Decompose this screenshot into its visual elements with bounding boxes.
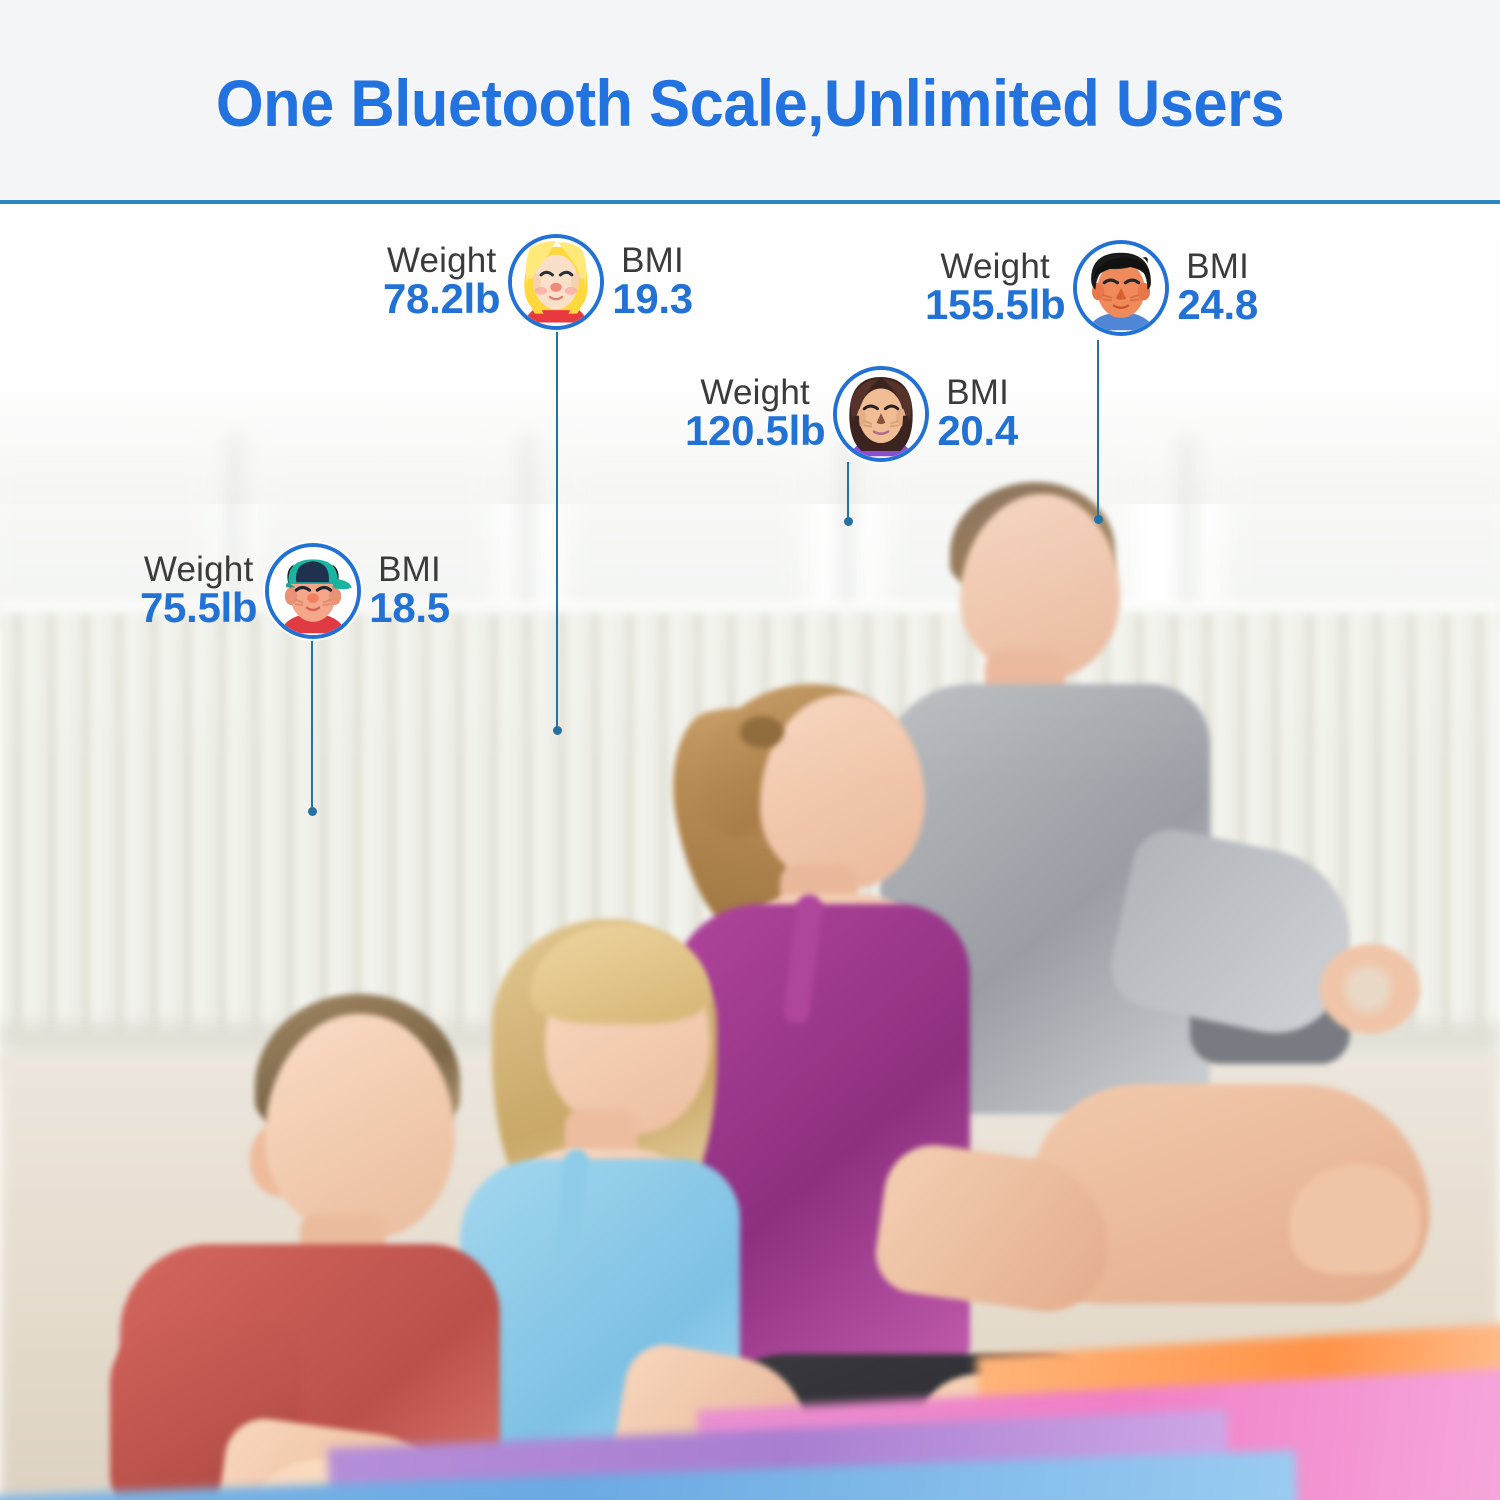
woman-hair-tie — [740, 716, 784, 748]
bmi-label: BMI — [946, 375, 1009, 411]
boy-head — [265, 1014, 455, 1239]
connector-line-man — [1097, 340, 1099, 520]
bmi-label: BMI — [378, 552, 441, 588]
bmi-metric-girl: BMI 19.3 — [612, 243, 693, 322]
weight-value: 155.5lb — [925, 284, 1065, 327]
connector-anchor-man — [1094, 515, 1103, 524]
window-pane — [560, 444, 810, 624]
window-pane — [1220, 444, 1500, 624]
connector-anchor-woman — [844, 517, 853, 526]
connector-anchor-boy — [308, 807, 317, 816]
girl-blonde-avatar[interactable] — [508, 234, 604, 330]
bmi-metric-boy: BMI 18.5 — [369, 552, 450, 631]
boy-green-cap-avatar[interactable] — [265, 543, 361, 639]
weight-metric-man: Weight 155.5lb — [925, 249, 1065, 328]
bmi-value: 24.8 — [1177, 284, 1258, 327]
bmi-label: BMI — [621, 243, 684, 279]
connector-line-boy — [311, 640, 313, 812]
weight-metric-boy: Weight 75.5lb — [140, 552, 257, 631]
weight-value: 75.5lb — [140, 587, 257, 630]
weight-label: Weight — [700, 375, 810, 411]
bmi-value: 18.5 — [369, 587, 450, 630]
weight-label: Weight — [940, 249, 1050, 285]
man-dark-hair-avatar[interactable] — [1073, 240, 1169, 336]
connector-anchor-girl — [553, 726, 562, 735]
man-foot — [1290, 1164, 1420, 1274]
weight-label: Weight — [387, 243, 497, 279]
page-title: One Bluetooth Scale,Unlimited Users — [53, 0, 1448, 201]
bmi-label: BMI — [1186, 249, 1249, 285]
weight-value: 78.2lb — [383, 278, 500, 321]
connector-line-woman — [847, 462, 849, 522]
bmi-value: 20.4 — [937, 410, 1018, 453]
man-mudra-gap — [1345, 966, 1391, 1012]
weight-label: Weight — [144, 552, 254, 588]
connector-line-girl — [556, 330, 558, 730]
weight-metric-woman: Weight 120.5lb — [685, 375, 825, 454]
weight-value: 120.5lb — [685, 410, 825, 453]
header-band: One Bluetooth Scale,Unlimited Users — [0, 0, 1500, 201]
bmi-value: 19.3 — [612, 278, 693, 321]
bmi-metric-man: BMI 24.8 — [1177, 249, 1258, 328]
woman-brown-hair-avatar[interactable] — [833, 366, 929, 462]
bmi-metric-woman: BMI 20.4 — [937, 375, 1018, 454]
weight-metric-girl: Weight 78.2lb — [383, 243, 500, 322]
